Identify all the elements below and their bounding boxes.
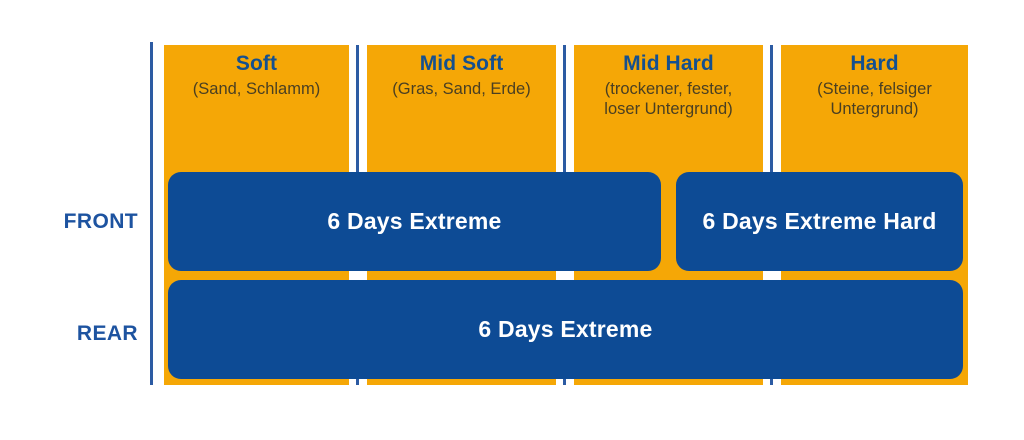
bar-front-6-days-extreme-hard-label: 6 Days Extreme Hard — [703, 208, 937, 235]
column-header-hard: Hard (Steine, felsiger Untergrund) — [781, 52, 968, 119]
gutter-notch-midsoft-midhard — [556, 271, 574, 280]
column-subtitle-mid-soft: (Gras, Sand, Erde) — [367, 79, 556, 99]
gutter-notch-midhard-hard — [763, 271, 781, 280]
terrain-compatibility-chart: Soft (Sand, Schlamm) Mid Soft (Gras, San… — [0, 0, 1024, 440]
column-subtitle-hard-line1: (Steine, felsiger — [781, 79, 968, 99]
column-header-soft: Soft (Sand, Schlamm) — [164, 52, 349, 99]
column-title-mid-hard: Mid Hard — [574, 52, 763, 76]
bar-front-6-days-extreme-hard[interactable]: 6 Days Extreme Hard — [676, 172, 963, 271]
column-subtitle-mid-hard-line1: (trockener, fester, — [574, 79, 763, 99]
column-title-mid-soft: Mid Soft — [367, 52, 556, 76]
row-label-front: FRONT — [0, 210, 138, 234]
bar-front-6-days-extreme-label: 6 Days Extreme — [327, 208, 501, 235]
column-header-mid-hard: Mid Hard (trockener, fester, loser Unter… — [574, 52, 763, 119]
column-subtitle-hard-line2: Untergrund) — [781, 99, 968, 119]
column-title-soft: Soft — [164, 52, 349, 76]
column-header-mid-soft: Mid Soft (Gras, Sand, Erde) — [367, 52, 556, 99]
column-title-hard: Hard — [781, 52, 968, 76]
gutter-notch-soft-midsoft — [349, 271, 367, 280]
row-label-rear: REAR — [0, 322, 138, 346]
column-subtitle-soft: (Sand, Schlamm) — [164, 79, 349, 99]
left-axis-rule — [150, 42, 153, 385]
bar-front-6-days-extreme[interactable]: 6 Days Extreme — [168, 172, 661, 271]
column-subtitle-mid-hard-line2: loser Untergrund) — [574, 99, 763, 119]
bar-rear-6-days-extreme[interactable]: 6 Days Extreme — [168, 280, 963, 379]
bar-rear-6-days-extreme-label: 6 Days Extreme — [478, 316, 652, 343]
